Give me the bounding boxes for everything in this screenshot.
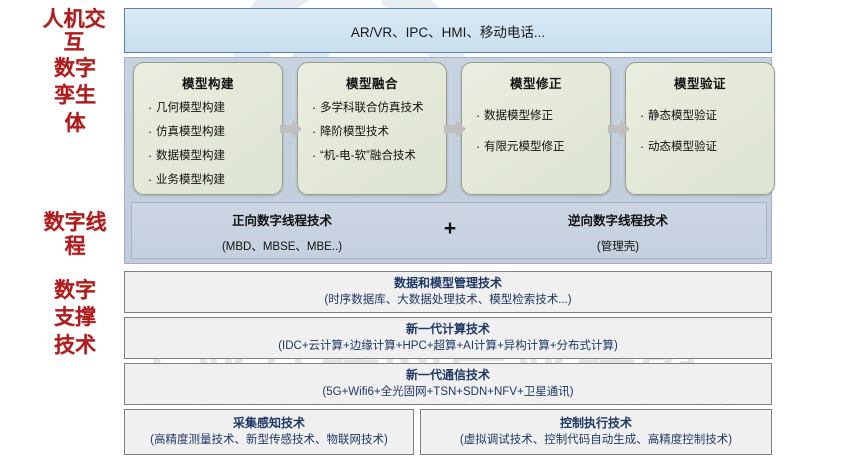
arrow-right-icon — [280, 120, 302, 138]
list-item-label: 业务模型构建 — [156, 173, 282, 187]
card-title: 模型修正 — [462, 73, 610, 92]
list-item: ·降阶模型技术 — [298, 125, 446, 140]
digital-twin-container: 模型构建 ·几何模型构建 ·仿真模型构建 ·数据模型构建 ·业务模型构建 模型融… — [124, 57, 772, 264]
rail-label-digital-thread: 数字线程 — [40, 211, 110, 258]
list-item: ·多学科联合仿真技术 — [298, 101, 446, 116]
rail-label-human-machine-interaction: 人机交互 — [38, 8, 110, 53]
support-row-data-model-management: 数据和模型管理技术 (时序数据库、大数据处理技术、模型检索技术...) — [124, 271, 772, 313]
support-row-title: 新一代计算技术 — [406, 322, 490, 338]
list-item: ·仿真模型构建 — [134, 125, 282, 140]
list-item-label: 静态模型验证 — [648, 109, 774, 123]
support-row-subtitle: (5G+Wifi6+全光固网+TSN+SDN+NFV+卫星通讯) — [322, 385, 573, 400]
list-item: ·几何模型构建 — [134, 101, 282, 116]
diagram-column: AR/VR、IPC、HMI、移动电话... 模型构建 ·几何模型构建 ·仿真模型… — [124, 0, 776, 463]
support-row-title: 采集感知技术 — [233, 416, 305, 432]
list-item: ·数据模型修正 — [462, 109, 610, 124]
bullet-icon: · — [308, 101, 320, 116]
hmi-bar: AR/VR、IPC、HMI、移动电话... — [124, 8, 772, 53]
rail-label-digital-support-tech: 数字支撑技术 — [54, 277, 96, 359]
support-row-sensing-acquisition: 采集感知技术 (高精度测量技术、新型传感技术、物联网技术) — [124, 409, 414, 455]
bullet-icon: · — [144, 173, 156, 188]
rail-label-digital-twin: 数字孪生体 — [54, 55, 96, 137]
list-item-label: 有限元模型修正 — [484, 140, 610, 154]
diagram-root: 工业互联网产业联盟 Alliance of Industrial Interne… — [0, 0, 841, 463]
bullet-icon: · — [144, 125, 156, 140]
bullet-icon: · — [144, 149, 156, 164]
support-row-title: 新一代通信技术 — [406, 368, 490, 384]
model-cards-group: 模型构建 ·几何模型构建 ·仿真模型构建 ·数据模型构建 ·业务模型构建 模型融… — [133, 62, 765, 197]
arrow-right-icon — [608, 120, 630, 138]
arrow-right-icon — [444, 120, 466, 138]
card-model-correction: 模型修正 ·数据模型修正 ·有限元模型修正 — [461, 62, 611, 195]
card-title: 模型构建 — [134, 73, 282, 92]
list-item-label: 多学科联合仿真技术 — [320, 101, 446, 115]
bullet-icon: · — [144, 101, 156, 116]
list-item: ·数据模型构建 — [134, 149, 282, 164]
list-item: ·动态模型验证 — [626, 140, 774, 155]
forward-digital-thread: 正向数字线程技术 (MBD、MBSE、MBE..) — [132, 203, 432, 260]
digital-thread-strip: 正向数字线程技术 (MBD、MBSE、MBE..) + 逆向数字线程技术 (管理… — [131, 202, 767, 259]
list-item-label: 几何模型构建 — [156, 101, 282, 115]
reverse-digital-thread: 逆向数字线程技术 (管理壳) — [468, 203, 768, 260]
support-row-title: 控制执行技术 — [560, 416, 632, 432]
list-item-label: 动态模型验证 — [648, 140, 774, 154]
card-model-validation: 模型验证 ·静态模型验证 ·动态模型验证 — [625, 62, 775, 195]
card-title: 模型验证 — [626, 73, 774, 92]
bullet-icon: · — [308, 125, 320, 140]
list-item-label: 数据模型构建 — [156, 149, 282, 163]
thread-title: 正向数字线程技术 — [232, 210, 332, 229]
list-item-label: 降阶模型技术 — [320, 125, 446, 139]
list-item-label: “机-电-软”融合技术 — [320, 149, 446, 163]
list-item: ·“机-电-软”融合技术 — [298, 149, 446, 164]
card-item-list: ·静态模型验证 ·动态模型验证 — [626, 109, 774, 155]
card-model-fusion: 模型融合 ·多学科联合仿真技术 ·降阶模型技术 ·“机-电-软”融合技术 — [297, 62, 447, 195]
bullet-icon: · — [636, 109, 648, 124]
card-title: 模型融合 — [298, 73, 446, 92]
list-item: ·静态模型验证 — [626, 109, 774, 124]
thread-subtitle: (MBD、MBSE、MBE..) — [222, 238, 342, 254]
support-row-control-execution: 控制执行技术 (虚拟调试技术、控制代码自动生成、高精度控制技术) — [420, 409, 772, 455]
list-item: ·有限元模型修正 — [462, 140, 610, 155]
hmi-bar-text: AR/VR、IPC、HMI、移动电话... — [351, 21, 545, 41]
support-row-next-gen-communication: 新一代通信技术 (5G+Wifi6+全光固网+TSN+SDN+NFV+卫星通讯) — [124, 363, 772, 405]
support-row-subtitle: (高精度测量技术、新型传感技术、物联网技术) — [150, 433, 388, 448]
list-item-label: 数据模型修正 — [484, 109, 610, 123]
support-row-next-gen-computing: 新一代计算技术 (IDC+云计算+边缘计算+HPC+超算+AI计算+异构计算+分… — [124, 317, 772, 359]
support-row-subtitle: (虚拟调试技术、控制代码自动生成、高精度控制技术) — [460, 433, 732, 448]
card-model-construction: 模型构建 ·几何模型构建 ·仿真模型构建 ·数据模型构建 ·业务模型构建 — [133, 62, 283, 195]
card-item-list: ·数据模型修正 ·有限元模型修正 — [462, 109, 610, 155]
bullet-icon: · — [472, 109, 484, 124]
support-row-title: 数据和模型管理技术 — [394, 276, 502, 292]
plus-icon: + — [434, 217, 466, 241]
support-row-subtitle: (IDC+云计算+边缘计算+HPC+超算+AI计算+异构计算+分布式计算) — [278, 339, 618, 354]
card-item-list: ·多学科联合仿真技术 ·降阶模型技术 ·“机-电-软”融合技术 — [298, 101, 446, 164]
bullet-icon: · — [308, 149, 320, 164]
thread-subtitle: (管理壳) — [597, 238, 639, 254]
support-row-subtitle: (时序数据库、大数据处理技术、模型检索技术...) — [324, 293, 571, 308]
bullet-icon: · — [472, 140, 484, 155]
thread-title: 逆向数字线程技术 — [568, 210, 668, 229]
list-item: ·业务模型构建 — [134, 173, 282, 188]
bullet-icon: · — [636, 140, 648, 155]
list-item-label: 仿真模型构建 — [156, 125, 282, 139]
card-item-list: ·几何模型构建 ·仿真模型构建 ·数据模型构建 ·业务模型构建 — [134, 101, 282, 188]
left-rail: 人机交互 数字孪生体 数字线程 数字支撑技术 — [0, 0, 118, 463]
